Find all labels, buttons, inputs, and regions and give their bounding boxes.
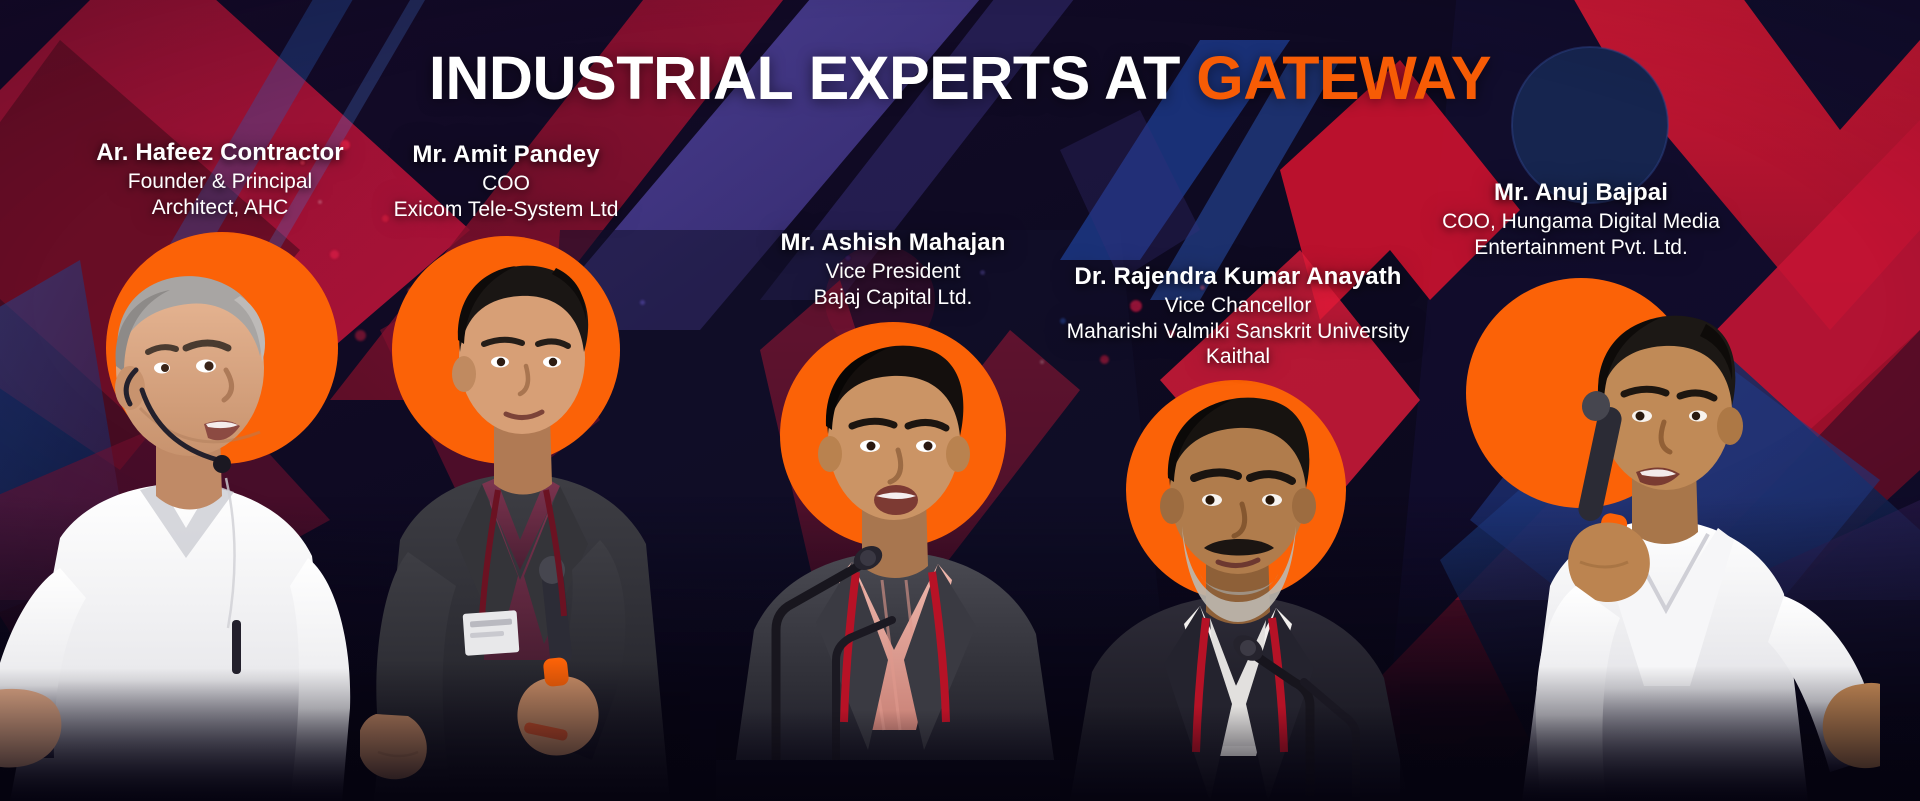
speaker-location-4: Kaithal [1043, 344, 1433, 370]
speaker-role-2: COO [316, 171, 696, 197]
speaker-name-4: Dr. Rajendra Kumar Anayath [1043, 262, 1433, 291]
speaker-org-3: Bajaj Capital Ltd. [703, 285, 1083, 311]
speaker-caption-5: Mr. Anuj Bajpai COO, Hungama Digital Med… [1386, 178, 1776, 260]
speaker-portrait-1 [0, 238, 360, 801]
banner-title: INDUSTRIAL EXPERTS AT GATEWAY [0, 48, 1920, 109]
speaker-org-5: Entertainment Pvt. Ltd. [1386, 235, 1776, 261]
speaker-role-3: Vice President [703, 259, 1083, 285]
speaker-portrait-2 [360, 240, 690, 801]
speaker-portrait-4 [1060, 386, 1420, 801]
speaker-name-3: Mr. Ashish Mahajan [703, 228, 1083, 257]
speaker-org-2: Exicom Tele-System Ltd [316, 197, 696, 223]
title-highlight-text: GATEWAY [1196, 44, 1491, 112]
title-main-text: INDUSTRIAL EXPERTS AT [429, 44, 1196, 112]
speaker-caption-3: Mr. Ashish Mahajan Vice President Bajaj … [703, 228, 1083, 310]
speaker-caption-4: Dr. Rajendra Kumar Anayath Vice Chancell… [1043, 262, 1433, 370]
speaker-name-2: Mr. Amit Pandey [316, 140, 696, 169]
banner-stage: INDUSTRIAL EXPERTS AT GATEWAY [0, 0, 1920, 801]
speaker-role-5: COO, Hungama Digital Media [1386, 209, 1776, 235]
speaker-portrait-3 [716, 330, 1076, 801]
speaker-role-4: Vice Chancellor [1043, 293, 1433, 319]
speaker-name-5: Mr. Anuj Bajpai [1386, 178, 1776, 207]
speaker-caption-2: Mr. Amit Pandey COO Exicom Tele-System L… [316, 140, 696, 222]
speaker-portrait-5 [1400, 286, 1880, 801]
speaker-org-4: Maharishi Valmiki Sanskrit University [1043, 319, 1433, 345]
